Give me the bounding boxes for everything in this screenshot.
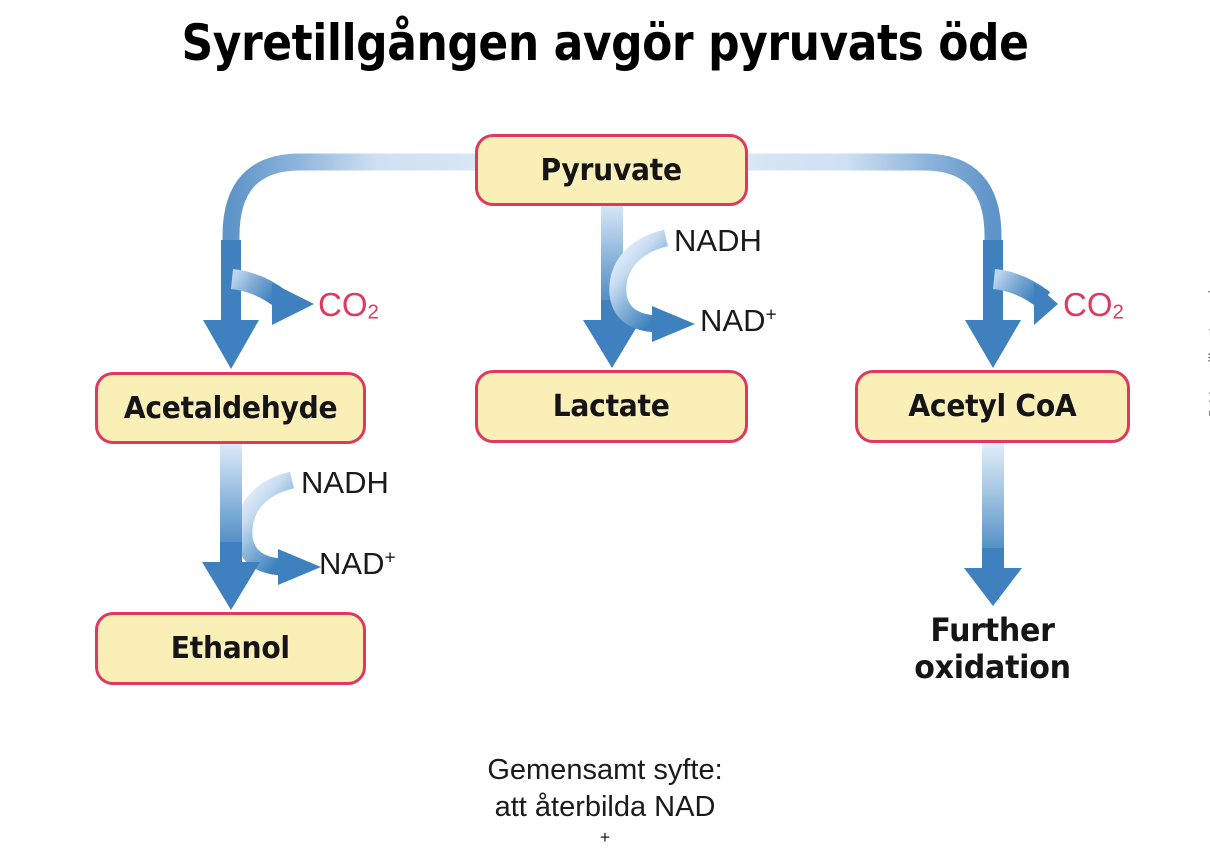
figure-caption-line1: Gemensamt syfte: — [0, 752, 1210, 789]
edge-pyruvate-to-acetyl-coa — [748, 162, 1021, 368]
label-co2-right-subscript: 2 — [1113, 300, 1124, 323]
byproduct-arrow-co2-left — [232, 279, 314, 325]
label-nad-plus-middle-superscript: + — [765, 304, 776, 325]
figure-caption-line2: att återbilda NAD+ — [0, 789, 1210, 864]
node-pyruvate-label: Pyruvate — [541, 153, 682, 188]
label-co2-left-subscript: 2 — [368, 300, 379, 323]
label-co2-left-text: CO — [318, 286, 368, 323]
label-nadh-left: NADH — [301, 465, 389, 501]
byproduct-arrow-co2-right — [994, 279, 1058, 325]
label-nad-plus-left-superscript: + — [384, 547, 395, 568]
node-ethanol-label: Ethanol — [171, 631, 290, 666]
label-co2-right-text: CO — [1063, 286, 1113, 323]
figure-caption: Gemensamt syfte: att återbilda NAD+ — [0, 752, 1210, 864]
copyright-credit: © Macmillan Learning — [1206, 273, 1210, 418]
node-ethanol[interactable]: Ethanol — [95, 612, 366, 685]
label-nad-plus-middle-text: NAD — [700, 303, 765, 338]
label-nadh-middle: NADH — [674, 223, 762, 259]
terminal-further-oxidation: Further oxidation — [855, 612, 1130, 686]
node-lactate-label: Lactate — [553, 389, 670, 424]
node-acetyl-coa[interactable]: Acetyl CoA — [855, 370, 1130, 443]
terminal-further-oxidation-line1: Further — [863, 612, 1122, 649]
label-nad-plus-left-text: NAD — [319, 546, 384, 581]
label-nad-plus-middle: NAD+ — [700, 303, 777, 339]
label-nad-plus-left: NAD+ — [319, 546, 396, 582]
label-co2-left: CO2 — [318, 286, 379, 324]
node-lactate[interactable]: Lactate — [475, 370, 748, 443]
node-acetaldehyde-label: Acetaldehyde — [124, 391, 338, 426]
edge-acetyl-coa-to-further-oxidation — [964, 443, 1022, 606]
terminal-further-oxidation-line2: oxidation — [863, 649, 1122, 686]
label-co2-right: CO2 — [1063, 286, 1124, 324]
figure-caption-line2-text: att återbilda NAD — [0, 789, 1210, 826]
node-acetyl-coa-label: Acetyl CoA — [908, 389, 1076, 424]
node-pyruvate[interactable]: Pyruvate — [475, 134, 748, 206]
figure-caption-line2-superscript: + — [600, 827, 610, 847]
edge-pyruvate-to-acetaldehyde — [203, 162, 475, 369]
node-acetaldehyde[interactable]: Acetaldehyde — [95, 372, 366, 444]
diagram-canvas: Syretillgången avgör pyruvats öde — [0, 0, 1210, 842]
